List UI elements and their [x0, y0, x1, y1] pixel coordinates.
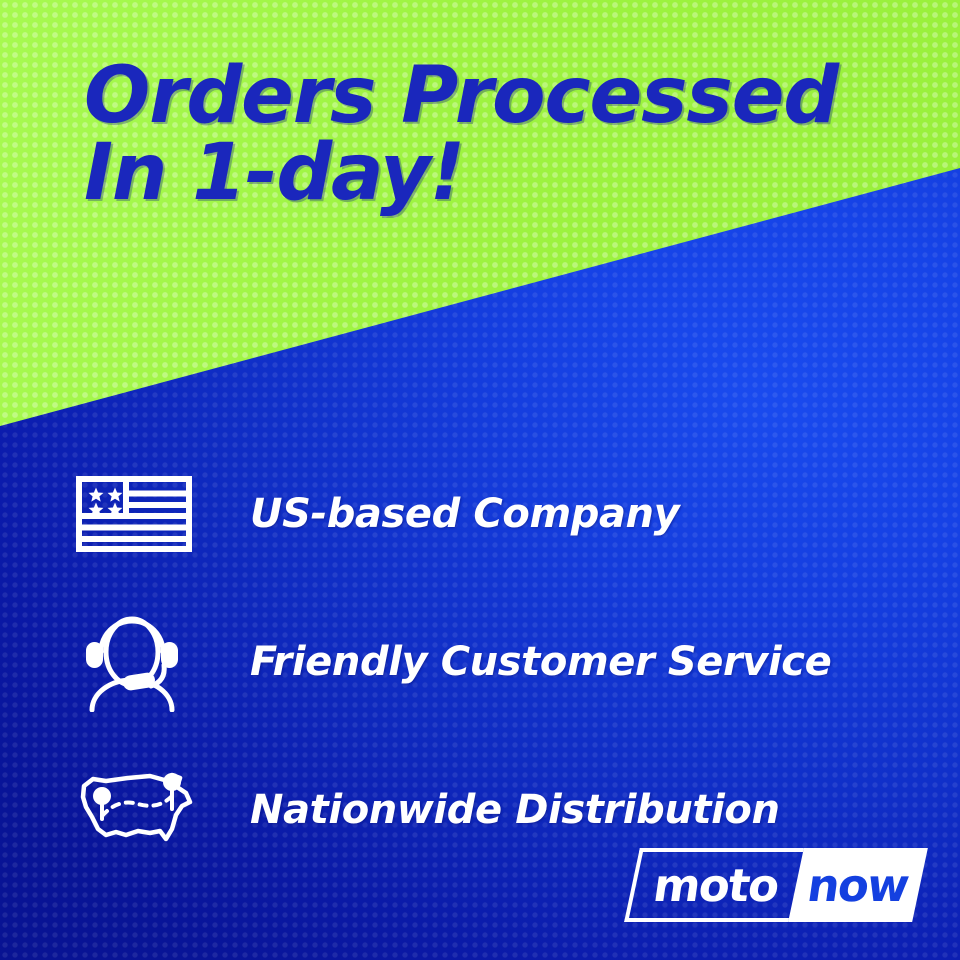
feature-row: Friendly Customer Service: [76, 588, 936, 736]
us-flag-icon: [76, 476, 208, 552]
logo-secondary-panel: now: [788, 848, 928, 922]
us-map-pins-icon: [76, 769, 208, 851]
feature-label: Nationwide Distribution: [250, 787, 780, 833]
logo-primary-panel: moto: [624, 848, 804, 922]
headset-support-icon: [76, 612, 208, 712]
logo-secondary-text: now: [805, 863, 911, 908]
feature-list: US-based Company Friendly Customer Servi…: [76, 440, 936, 884]
feature-label: Friendly Customer Service: [250, 639, 831, 685]
feature-label: US-based Company: [250, 491, 679, 537]
logo-primary-text: moto: [651, 863, 781, 908]
motonow-logo: moto now: [624, 848, 928, 922]
promo-banner: Orders Processed In 1-day!: [0, 0, 960, 960]
headline: Orders Processed In 1-day!: [84, 58, 924, 212]
feature-row: US-based Company: [76, 440, 936, 588]
